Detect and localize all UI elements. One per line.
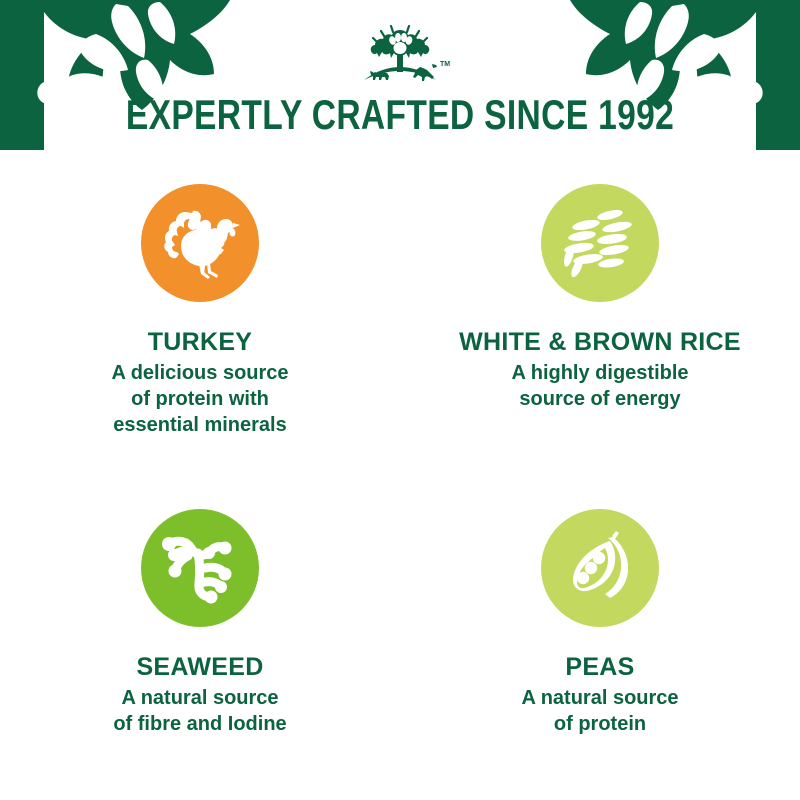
tree-with-paw-and-dogs-logo: TM (346, 22, 454, 88)
desc-line: A natural source (521, 685, 678, 711)
rice-grains-icon (555, 198, 645, 288)
page-title: EXPERTLY CRAFTED SINCE 1992 (80, 92, 720, 138)
peas-icon-circle (541, 509, 659, 627)
desc-line: of protein (521, 711, 678, 737)
card-title-rice: WHITE & BROWN RICE (459, 328, 741, 356)
turkey-icon (155, 198, 245, 288)
desc-line: A natural source (113, 685, 286, 711)
card-title-turkey: TURKEY (148, 328, 253, 356)
card-desc-peas: A natural source of protein (521, 685, 678, 737)
ingredient-benefits-infographic: TM EXPERTLY CRAFTED SINCE 1992 (0, 0, 800, 800)
header-banner: TM EXPERTLY CRAFTED SINCE 1992 (0, 0, 800, 150)
benefit-card-peas: PEAS A natural source of protein (400, 475, 800, 800)
desc-line: of fibre and Iodine (113, 711, 286, 737)
trademark-mark: TM (440, 61, 450, 68)
benefits-grid: TURKEY A delicious source of protein wit… (0, 150, 800, 800)
card-desc-rice: A highly digestible source of energy (511, 360, 688, 412)
desc-line: A delicious source (111, 360, 288, 386)
desc-line: of protein with (111, 386, 288, 412)
card-title-seaweed: SEAWEED (136, 653, 263, 681)
seaweed-icon (155, 523, 245, 613)
seaweed-icon-circle (141, 509, 259, 627)
benefit-card-seaweed: SEAWEED A natural source of fibre and Io… (0, 475, 400, 800)
card-desc-turkey: A delicious source of protein with essen… (111, 360, 288, 438)
desc-line: essential minerals (111, 412, 288, 438)
rice-icon-circle (541, 184, 659, 302)
card-title-peas: PEAS (565, 653, 634, 681)
card-desc-seaweed: A natural source of fibre and Iodine (113, 685, 286, 737)
pea-pod-icon (555, 523, 645, 613)
desc-line: source of energy (511, 386, 688, 412)
turkey-icon-circle (141, 184, 259, 302)
benefit-card-turkey: TURKEY A delicious source of protein wit… (0, 150, 400, 475)
desc-line: A highly digestible (511, 360, 688, 386)
benefit-card-rice: WHITE & BROWN RICE A highly digestible s… (400, 150, 800, 475)
